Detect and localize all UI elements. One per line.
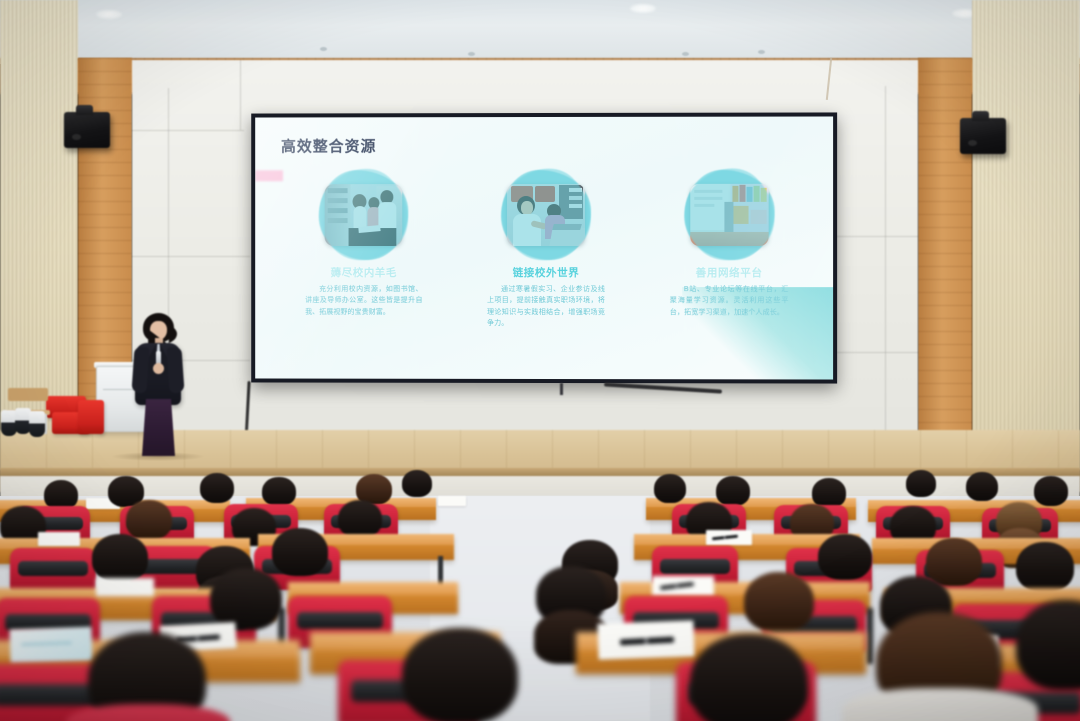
blob-shape bbox=[310, 169, 417, 261]
card-heading: 薅尽校内羊毛 bbox=[273, 265, 455, 280]
online-study-desk-photo bbox=[690, 184, 768, 246]
student-head bbox=[402, 470, 432, 497]
card-heading: 链接校外世界 bbox=[455, 265, 638, 280]
card-body-text: 充分利用校内资源，如图书馆、讲座及导师办公室。这些皆是提升自我、拓展视野的宝贵财… bbox=[305, 284, 422, 318]
ceiling-fixture bbox=[758, 50, 765, 54]
student-head bbox=[126, 500, 172, 540]
blob-shape bbox=[492, 169, 600, 261]
lecture-hall-scene: 高效整合资源 bbox=[0, 0, 1080, 721]
card-heading: 善用网络平台 bbox=[637, 265, 821, 280]
slide-title: 高效整合资源 bbox=[281, 135, 376, 156]
ribbed-wall-right bbox=[972, 0, 1080, 470]
student-head bbox=[200, 473, 234, 503]
ceiling-fixture bbox=[320, 47, 327, 51]
slide-card: 善用网络平台 B站、专业论坛等在线平台，汇聚海量学习资源。灵活利用这些平台，拓宽… bbox=[637, 169, 821, 330]
wall-speaker-left bbox=[64, 112, 110, 148]
slide-cards: 薅尽校内羊毛 充分利用校内资源，如图书馆、讲座及导师办公室。这些皆是提升自我、拓… bbox=[273, 169, 821, 330]
student-head bbox=[402, 628, 518, 721]
presentation-slide: 高效整合资源 bbox=[255, 116, 833, 379]
office-computer-photo bbox=[507, 184, 585, 246]
student-head bbox=[966, 472, 998, 501]
desk-leg bbox=[866, 608, 873, 664]
led-screen[interactable]: 高效整合资源 bbox=[251, 112, 837, 383]
blob-shape bbox=[675, 169, 784, 261]
chair bbox=[10, 548, 96, 592]
ceiling-light bbox=[630, 4, 656, 13]
student-head bbox=[744, 572, 814, 632]
ceiling-fixture bbox=[468, 52, 475, 56]
student-shoulders bbox=[842, 688, 1038, 721]
student-head bbox=[272, 528, 328, 576]
library-students-photo bbox=[325, 184, 403, 246]
presenter-hands bbox=[153, 363, 164, 374]
student-head bbox=[690, 634, 808, 721]
notebook bbox=[9, 627, 92, 664]
presenter-skirt bbox=[142, 399, 175, 456]
slide-card: 链接校外世界 通过寒暑假实习、企业参访及线上项目，提前接触真实职场环境，将理论知… bbox=[455, 169, 638, 330]
ceiling bbox=[0, 0, 1080, 64]
student-head bbox=[716, 476, 750, 506]
student-head bbox=[654, 474, 686, 503]
presenter-arm-left bbox=[131, 347, 149, 394]
bag-cluster bbox=[0, 408, 54, 440]
paper bbox=[38, 532, 80, 546]
ceiling-light bbox=[96, 10, 122, 19]
student-head bbox=[92, 534, 148, 582]
student-head bbox=[210, 568, 282, 630]
card-body-text: 通过寒暑假实习、企业参访及线上项目，提前接触真实职场环境，将理论知识与实践相结合… bbox=[487, 284, 605, 329]
student-head bbox=[906, 470, 936, 497]
screen-cable-stub bbox=[560, 383, 563, 395]
student-head bbox=[818, 534, 872, 580]
ceiling-fixture bbox=[682, 52, 689, 56]
student-head bbox=[262, 477, 296, 506]
student-head bbox=[338, 500, 382, 538]
student-head bbox=[1034, 476, 1068, 506]
presenter bbox=[126, 313, 190, 456]
red-stool bbox=[78, 400, 104, 434]
card-body-text: B站、专业论坛等在线平台，汇聚海量学习资源。灵活利用这些平台，拓宽学习渠道，加速… bbox=[670, 284, 789, 318]
paper bbox=[96, 578, 154, 596]
paper bbox=[438, 496, 466, 506]
student-head bbox=[926, 538, 982, 586]
slide-card: 薅尽校内羊毛 充分利用校内资源，如图书馆、讲座及导师办公室。这些皆是提升自我、拓… bbox=[273, 169, 455, 329]
wall-speaker-right bbox=[960, 118, 1006, 154]
presenter-arm-right bbox=[166, 347, 184, 394]
student-head bbox=[1016, 542, 1074, 592]
